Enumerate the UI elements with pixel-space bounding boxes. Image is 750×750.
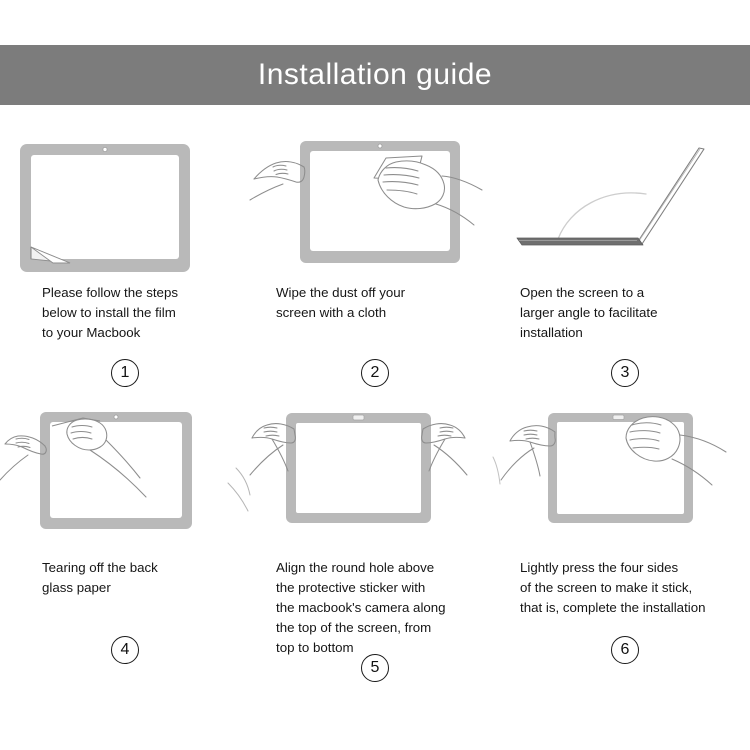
- step-2-badge: 2: [250, 359, 500, 387]
- step-1-illustration: [0, 130, 250, 275]
- left-hand-icon: [501, 426, 555, 480]
- step-number: 3: [611, 359, 639, 387]
- step-5-illustration: [250, 405, 500, 550]
- step-cell-1: Please follow the steps below to install…: [0, 130, 250, 405]
- step-cell-3: Open the screen to a larger angle to fac…: [500, 130, 750, 405]
- step-cell-4: Tearing off the back glass paper 4: [0, 405, 250, 690]
- step-6-caption: Lightly press the four sides of the scre…: [500, 550, 750, 618]
- page-title: Installation guide: [258, 60, 492, 90]
- step-1-caption: Please follow the steps below to install…: [0, 275, 250, 343]
- tablet-frame-icon: [40, 412, 192, 529]
- step-number: 5: [361, 654, 389, 682]
- header-band: Installation guide: [0, 45, 750, 105]
- step-1-badge: 1: [0, 359, 250, 387]
- step-cell-6: Lightly press the four sides of the scre…: [500, 405, 750, 690]
- step-2-illustration: [250, 130, 500, 275]
- laptop-base-icon: [517, 238, 643, 245]
- step-number: 6: [611, 636, 639, 664]
- step-6-badge: 6: [500, 636, 750, 664]
- protective-film-frame-icon: [286, 413, 431, 523]
- step-3-caption: Open the screen to a larger angle to fac…: [500, 275, 750, 343]
- step-4-caption: Tearing off the back glass paper: [0, 550, 250, 598]
- adjacent-hand-icon: [228, 468, 250, 511]
- step-cell-2: Wipe the dust off your screen with a clo…: [250, 130, 500, 405]
- step-number: 1: [111, 359, 139, 387]
- adjacent-hand-icon: [493, 457, 500, 484]
- step-2-caption: Wipe the dust off your screen with a clo…: [250, 275, 500, 323]
- step-cell-5: Align the round hole above the protectiv…: [250, 405, 500, 690]
- step-5-caption: Align the round hole above the protectiv…: [250, 550, 500, 658]
- left-hand-icon: [250, 162, 305, 200]
- step-6-illustration: [500, 405, 750, 550]
- step-4-badge: 4: [0, 636, 250, 664]
- step-4-illustration: [0, 405, 250, 550]
- step-number: 2: [361, 359, 389, 387]
- laptop-screen-icon: [637, 148, 704, 244]
- left-hand-icon: [0, 436, 46, 480]
- open-angle-arc-icon: [558, 193, 646, 239]
- step-5-badge: 5: [250, 654, 500, 682]
- step-3-badge: 3: [500, 359, 750, 387]
- steps-grid: Please follow the steps below to install…: [0, 130, 750, 690]
- step-number: 4: [111, 636, 139, 664]
- step-3-illustration: [500, 130, 750, 275]
